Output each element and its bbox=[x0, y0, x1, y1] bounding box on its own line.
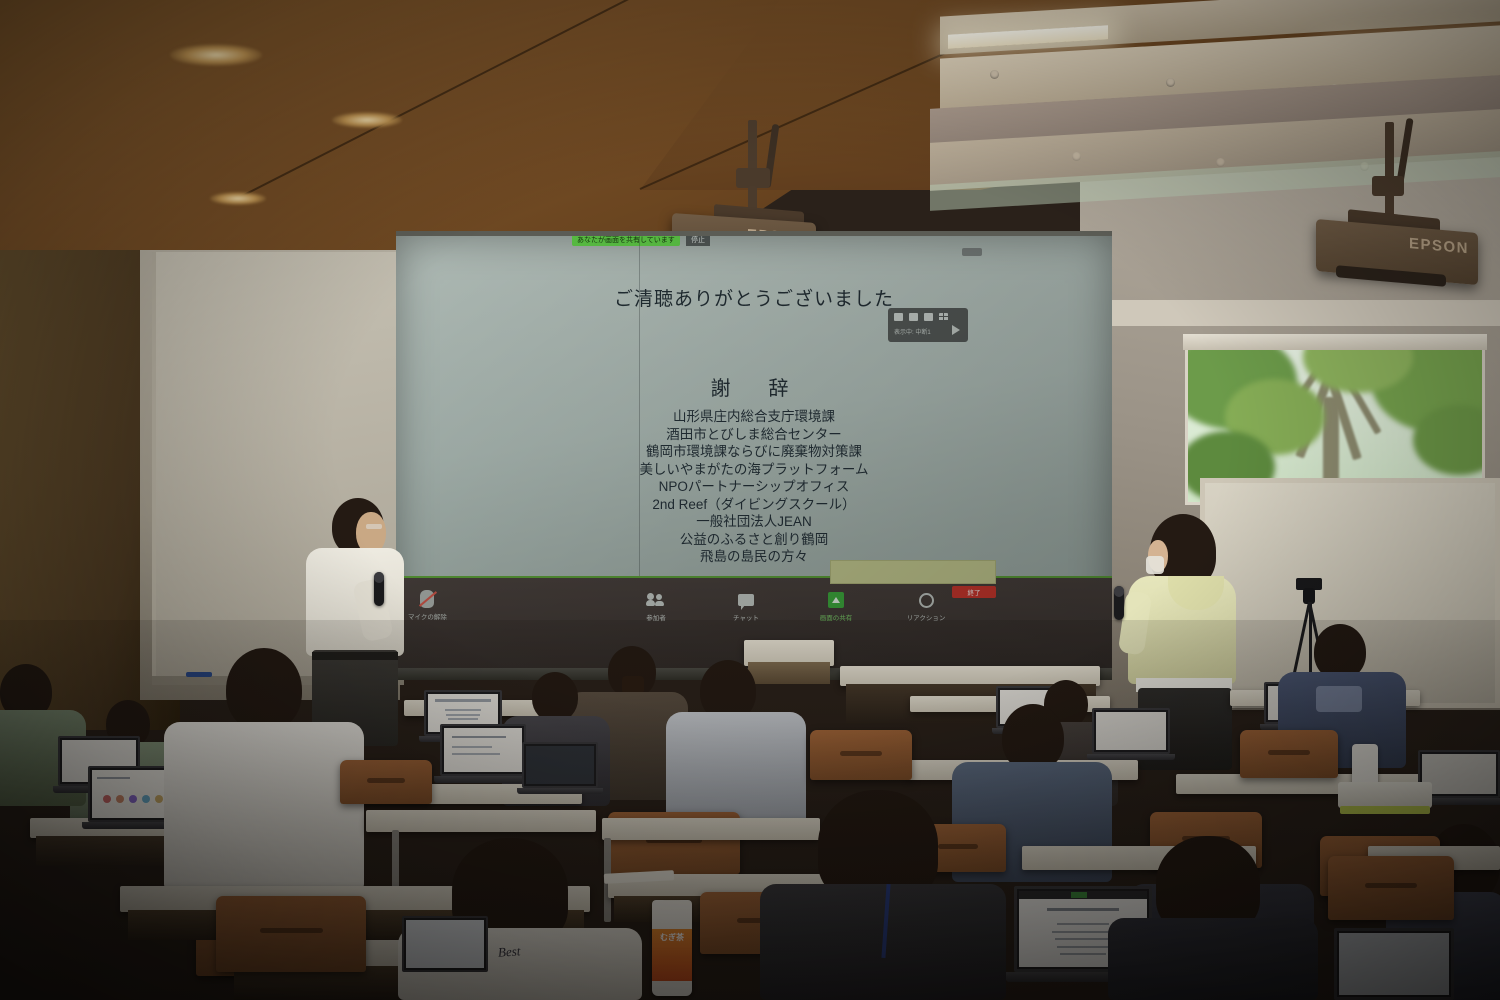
laptop-base bbox=[434, 776, 532, 783]
laptop-screen bbox=[402, 916, 488, 972]
laptop-base bbox=[1087, 754, 1175, 760]
chair[interactable] bbox=[216, 896, 366, 972]
beam-bolt bbox=[990, 70, 999, 79]
chair[interactable] bbox=[810, 730, 912, 780]
desk-row3 bbox=[602, 818, 820, 840]
wall-upper-strip bbox=[1080, 300, 1500, 326]
bottle-label-text: むぎ茶 bbox=[652, 932, 692, 943]
projector-pipe bbox=[1385, 122, 1394, 184]
bottle-cap bbox=[663, 900, 681, 901]
audience-shirt bbox=[164, 722, 364, 890]
laptop-display bbox=[1096, 712, 1166, 750]
speaker-belt bbox=[312, 652, 398, 660]
screen-shading bbox=[396, 236, 1112, 676]
laptop-screen bbox=[1092, 708, 1170, 754]
audience-top bbox=[1108, 918, 1318, 1000]
paper-tray bbox=[1338, 782, 1432, 808]
whiteboard-marker bbox=[186, 672, 212, 677]
laptop-display bbox=[526, 746, 594, 784]
eyeglasses-icon bbox=[366, 524, 382, 529]
audience-head bbox=[532, 672, 578, 722]
shirt-graphic bbox=[1316, 686, 1362, 712]
projection-screen: あなたが画面を共有しています 停止 ご清聴ありがとうございました 謝 辞 山形県… bbox=[396, 236, 1112, 676]
handheld-microphone-icon bbox=[374, 572, 384, 606]
lecture-hall-scene: EPSON EPSON あなたが画面を共有しています 停止 ご清聴ありがとうござ… bbox=[0, 0, 1500, 1000]
face-mask-icon bbox=[1146, 556, 1164, 574]
chair[interactable] bbox=[1240, 730, 1338, 778]
laptop-screen bbox=[522, 742, 598, 788]
projector-brand-label: EPSON bbox=[1409, 235, 1469, 257]
beam-bolt bbox=[1166, 78, 1175, 87]
handheld-microphone-icon bbox=[1114, 586, 1124, 620]
projector-mount bbox=[736, 168, 770, 188]
laptop-screen bbox=[1334, 928, 1454, 1000]
podium-front bbox=[748, 662, 830, 684]
bottle-label: むぎ茶 bbox=[652, 929, 692, 981]
window-blind bbox=[1183, 334, 1487, 350]
chair[interactable] bbox=[1328, 856, 1454, 920]
laptop-slide-title bbox=[435, 699, 491, 702]
laptop-screen bbox=[440, 724, 526, 776]
downlight-icon bbox=[170, 44, 262, 66]
laptop-base bbox=[517, 788, 603, 794]
laptop-display bbox=[1422, 754, 1496, 794]
downlight-icon bbox=[210, 192, 266, 205]
beam-bolt bbox=[1072, 152, 1081, 161]
shirt-script-text: Best bbox=[497, 943, 520, 961]
laptop-display bbox=[406, 920, 484, 968]
audience-head bbox=[226, 648, 302, 732]
desk-row3 bbox=[366, 810, 596, 832]
laptop-display bbox=[1339, 933, 1449, 995]
beam-bolt bbox=[1216, 158, 1225, 167]
green-folder bbox=[1340, 806, 1430, 814]
laptop-display bbox=[444, 728, 522, 772]
chair[interactable] bbox=[340, 760, 432, 804]
tea-bottle: むぎ茶 bbox=[652, 900, 692, 996]
downlight-icon bbox=[332, 112, 402, 128]
